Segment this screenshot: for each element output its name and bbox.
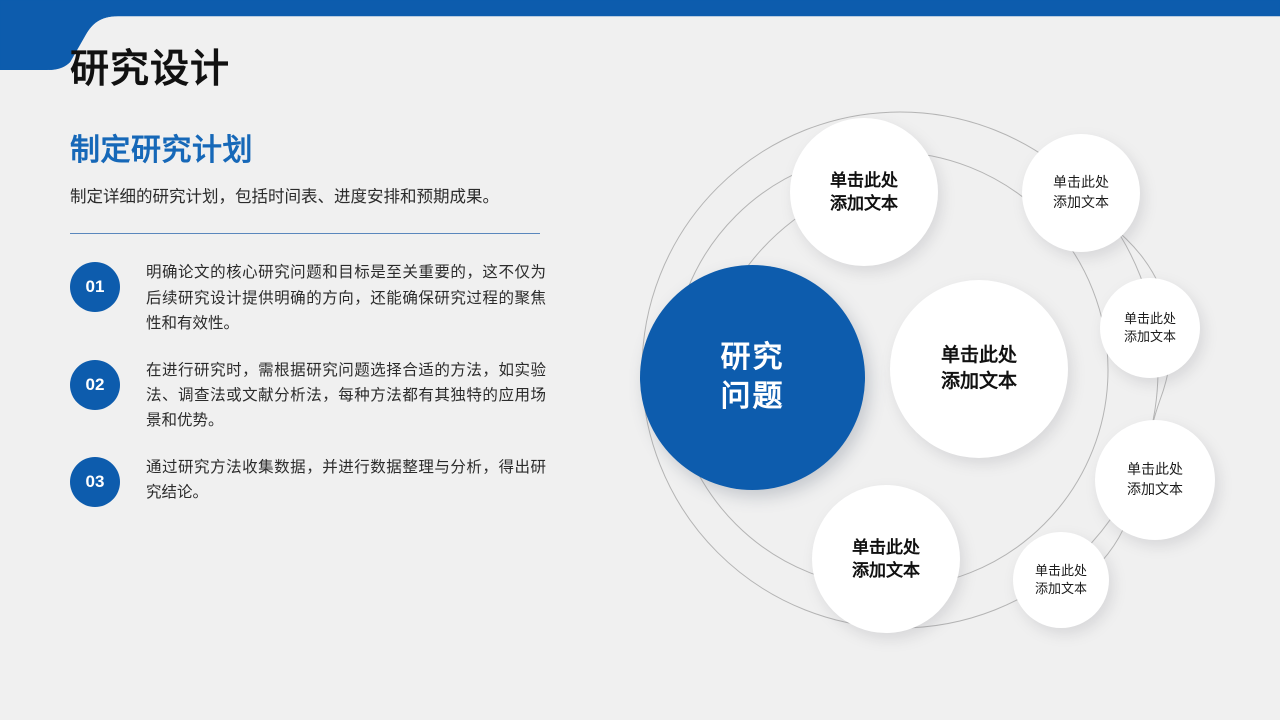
numbered-list: 01 明确论文的核心研究问题和目标是至关重要的，这不仅为后续研究设计提供明确的方… xyxy=(70,260,575,507)
number-badge-03: 03 xyxy=(70,457,120,507)
node-bottom-left[interactable]: 单击此处 添加文本 xyxy=(812,485,960,633)
node-middle-line2: 添加文本 xyxy=(941,369,1017,395)
list-item: 02 在进行研究时，需根据研究问题选择合适的方法，如实验法、调查法或文献分析法，… xyxy=(70,358,575,433)
horizontal-divider xyxy=(70,233,540,234)
center-node-research-question[interactable]: 研究 问题 xyxy=(640,265,865,490)
node-bottom-right[interactable]: 单击此处 添加文本 xyxy=(1013,532,1109,628)
list-item-text: 明确论文的核心研究问题和目标是至关重要的，这不仅为后续研究设计提供明确的方向，还… xyxy=(146,260,546,335)
node-right-top-line2: 添加文本 xyxy=(1053,193,1109,213)
center-node-line1: 研究 xyxy=(721,339,785,377)
page-title: 研究设计 xyxy=(70,48,575,92)
slide-canvas: 研究设计 制定研究计划 制定详细的研究计划，包括时间表、进度安排和预期成果。 0… xyxy=(0,0,1280,720)
node-top-line1: 单击此处 xyxy=(830,169,898,192)
node-bottom-left-line1: 单击此处 xyxy=(852,536,920,559)
list-item: 01 明确论文的核心研究问题和目标是至关重要的，这不仅为后续研究设计提供明确的方… xyxy=(70,260,575,335)
node-middle-line1: 单击此处 xyxy=(941,343,1017,369)
node-bottom-left-line2: 添加文本 xyxy=(852,559,920,582)
node-right-lower[interactable]: 单击此处 添加文本 xyxy=(1095,420,1215,540)
node-right-upper-line2: 添加文本 xyxy=(1124,328,1176,346)
list-item-text: 在进行研究时，需根据研究问题选择合适的方法，如实验法、调查法或文献分析法，每种方… xyxy=(146,358,546,433)
node-top-line2: 添加文本 xyxy=(830,192,898,215)
list-item: 03 通过研究方法收集数据，并进行数据整理与分析，得出研究结论。 xyxy=(70,455,575,507)
node-right-upper-line1: 单击此处 xyxy=(1124,310,1176,328)
section-description: 制定详细的研究计划，包括时间表、进度安排和预期成果。 xyxy=(70,184,560,211)
node-right-top[interactable]: 单击此处 添加文本 xyxy=(1022,134,1140,252)
center-node-line2: 问题 xyxy=(721,378,785,416)
node-right-top-line1: 单击此处 xyxy=(1053,173,1109,193)
section-title: 制定研究计划 xyxy=(70,134,575,169)
number-badge-01: 01 xyxy=(70,262,120,312)
list-item-text: 通过研究方法收集数据，并进行数据整理与分析，得出研究结论。 xyxy=(146,455,546,505)
node-right-upper[interactable]: 单击此处 添加文本 xyxy=(1100,278,1200,378)
left-content-column: 研究设计 制定研究计划 制定详细的研究计划，包括时间表、进度安排和预期成果。 0… xyxy=(70,48,575,529)
node-bottom-right-line1: 单击此处 xyxy=(1035,562,1087,580)
node-bottom-right-line2: 添加文本 xyxy=(1035,580,1087,598)
circle-network-diagram: 研究 问题 单击此处 添加文本 单击此处 添加文本 单击此处 添加文本 单击此处… xyxy=(600,70,1280,720)
node-right-lower-line2: 添加文本 xyxy=(1127,480,1183,500)
node-right-lower-line1: 单击此处 xyxy=(1127,460,1183,480)
node-top[interactable]: 单击此处 添加文本 xyxy=(790,118,938,266)
node-middle[interactable]: 单击此处 添加文本 xyxy=(890,280,1068,458)
number-badge-02: 02 xyxy=(70,360,120,410)
